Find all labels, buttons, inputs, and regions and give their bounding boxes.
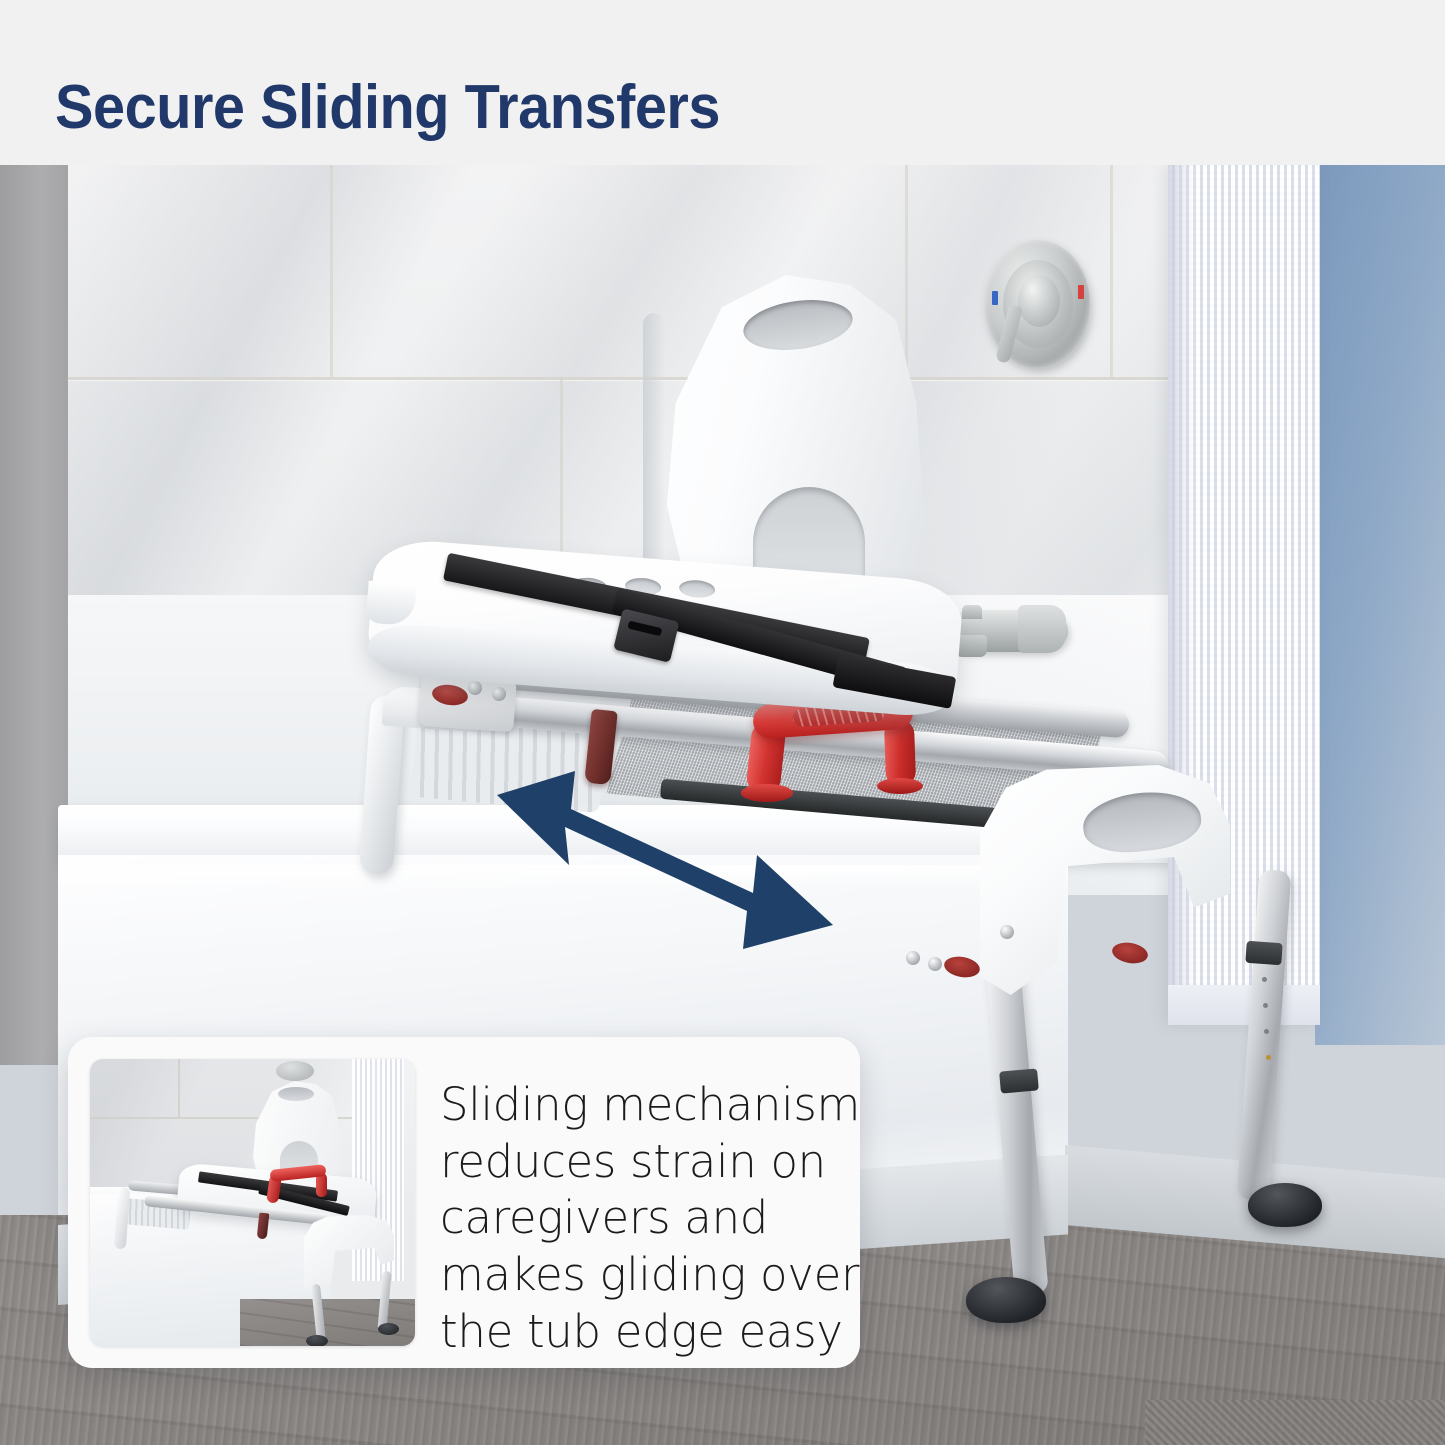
bolt xyxy=(906,951,920,965)
thumb-foot xyxy=(306,1335,328,1346)
page-title: Secure Sliding Transfers xyxy=(55,72,720,143)
tub-spout-diverter xyxy=(962,605,982,619)
header-band: Secure Sliding Transfers xyxy=(0,0,1445,165)
floor-rug xyxy=(1145,1400,1445,1445)
bolt xyxy=(492,687,506,701)
caption-line-1: Sliding mechanism xyxy=(440,1077,840,1134)
inset-thumbnail[interactable] xyxy=(90,1059,415,1346)
bolt xyxy=(1000,925,1014,939)
backrest-edge xyxy=(643,313,665,567)
leg-adjust-hole xyxy=(1264,1029,1269,1034)
bolt xyxy=(928,957,942,971)
grab-handle-right-foot xyxy=(877,778,923,794)
caption-text: Sliding mechanism reduces strain on care… xyxy=(440,1077,840,1360)
bench-backrest xyxy=(635,275,925,595)
leg-height-collar xyxy=(1245,941,1282,965)
grout-line xyxy=(68,377,1178,380)
thumb-shower-head xyxy=(276,1061,314,1081)
grout-line xyxy=(330,165,333,377)
caption-card: Sliding mechanism reduces strain on care… xyxy=(68,1037,860,1368)
hot-indicator xyxy=(1078,285,1084,299)
bench-leg-yoke xyxy=(975,765,1230,995)
rubber-foot xyxy=(1248,1183,1322,1227)
tub-spout-collar xyxy=(1018,605,1066,653)
leg-adjust-hole xyxy=(1262,977,1267,982)
cold-indicator xyxy=(992,291,998,305)
leg-adjust-pin[interactable] xyxy=(1266,1055,1271,1060)
leg-adjust-hole xyxy=(1263,1003,1268,1008)
leg-yoke-body xyxy=(975,765,1230,995)
shower-valve-knob xyxy=(1018,275,1060,327)
sliding-direction-indicator xyxy=(495,765,835,955)
double-arrow-icon xyxy=(495,765,835,955)
bolt xyxy=(468,681,482,695)
thumb-grab-handle xyxy=(266,1167,328,1201)
leg-height-collar xyxy=(999,1068,1039,1093)
grout-line xyxy=(1110,165,1113,377)
thumb-grout xyxy=(178,1059,180,1117)
caption-line-4: makes gliding over xyxy=(440,1247,840,1304)
thumb-leg-yoke xyxy=(302,1215,394,1293)
caption-line-5: the tub edge easy xyxy=(440,1304,840,1361)
thumb-backrest-handle xyxy=(278,1087,314,1101)
thumb-foot xyxy=(378,1323,399,1335)
accent-wall xyxy=(1315,165,1445,1045)
caption-line-2: reduces strain on xyxy=(440,1134,840,1191)
caption-line-3: caregivers and xyxy=(440,1190,840,1247)
rubber-foot xyxy=(966,1277,1046,1323)
product-feature-graphic: Secure Sliding Transfers xyxy=(0,0,1445,1445)
